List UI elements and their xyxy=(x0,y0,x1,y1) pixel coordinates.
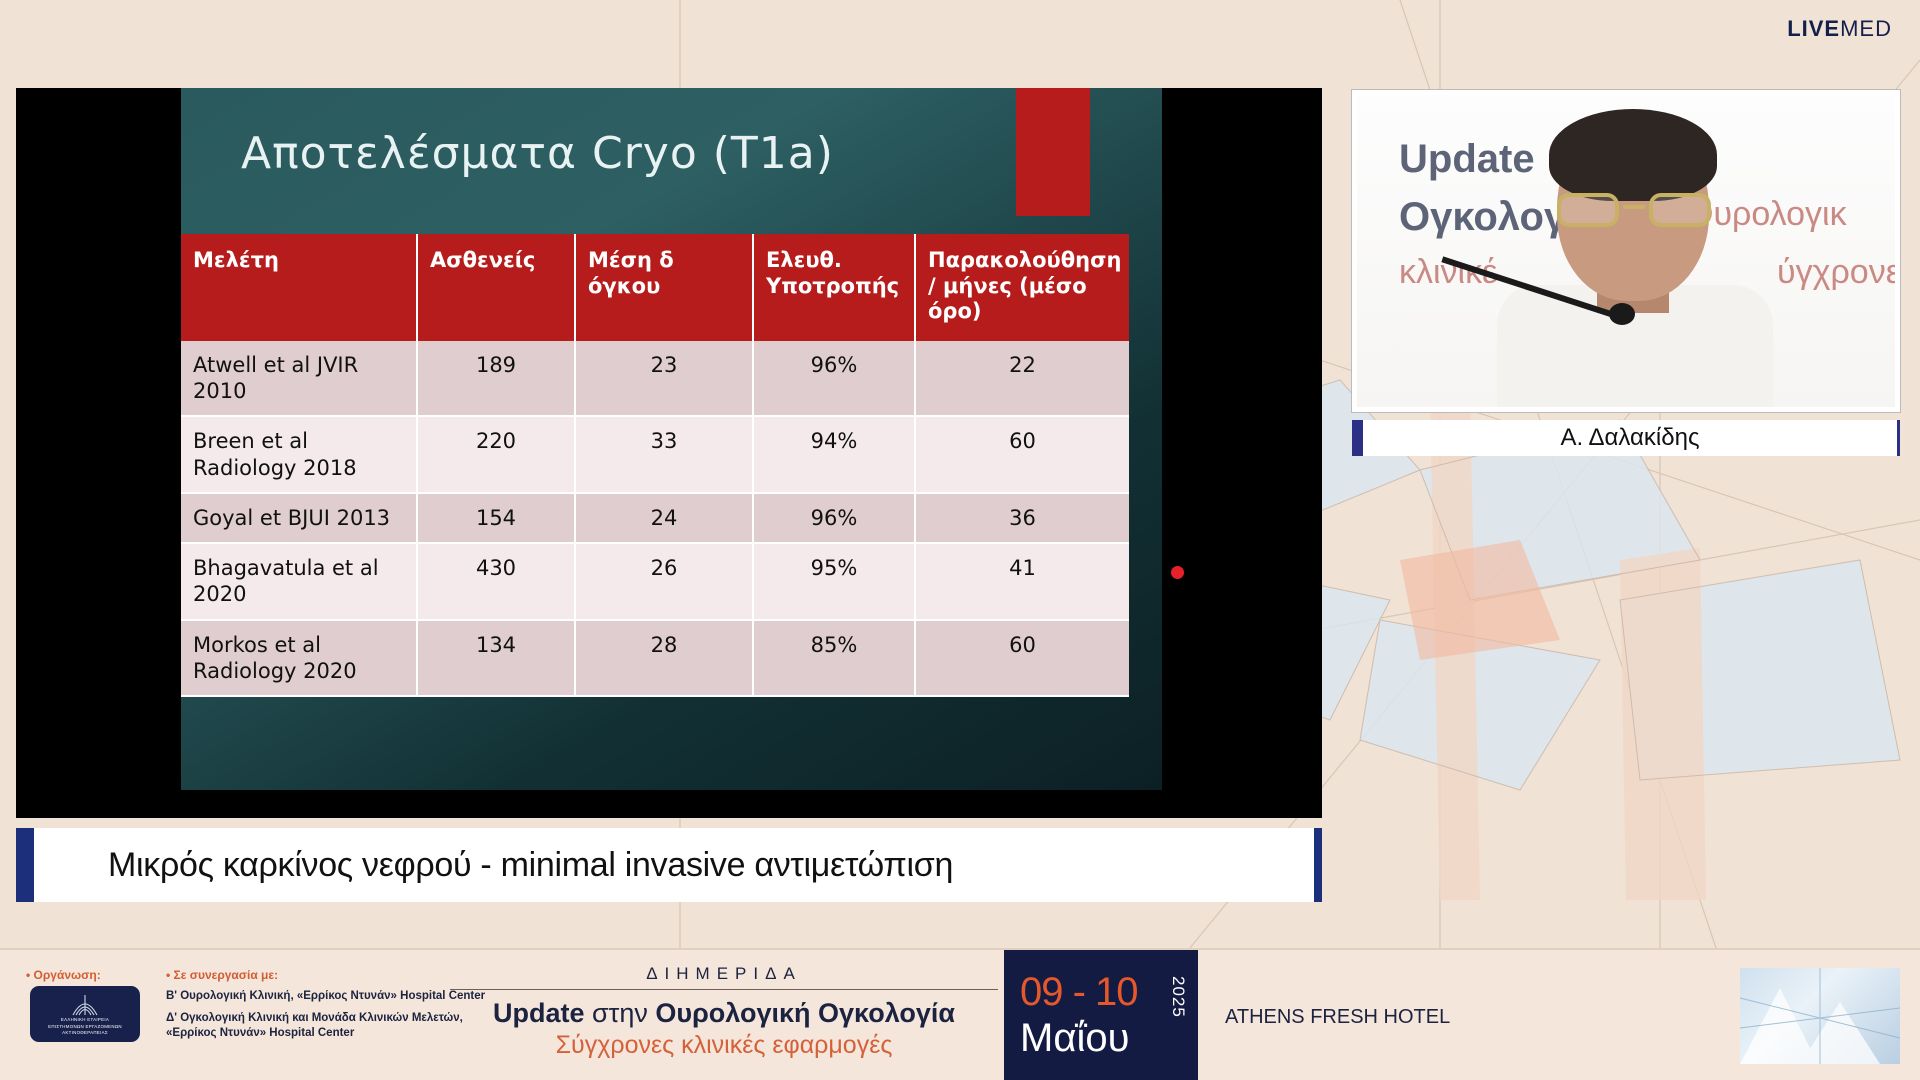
cell-study: Morkos et al Radiology 2020 xyxy=(181,620,417,697)
cell-followup: 60 xyxy=(915,416,1129,493)
table-row: Bhagavatula et al 2020 430 26 95% 41 xyxy=(181,543,1129,620)
speaker-name-text: Α. Δαλακίδης xyxy=(1560,424,1699,452)
slide-accent-bar xyxy=(1016,88,1090,216)
cell-patients: 220 xyxy=(417,416,575,493)
results-table-wrapper: Μελέτη Ασθενείς Μέση δ όγκου Ελευθ. Υποτ… xyxy=(181,234,1129,697)
slide-content: Αποτελέσματα Cryo (T1a) Μελέτη Ασθενείς … xyxy=(181,88,1162,790)
cell-followup: 60 xyxy=(915,620,1129,697)
backdrop-text-sygxrones: ύγχρονες xyxy=(1777,253,1900,292)
event-date-month: Μαΐου xyxy=(1020,1016,1129,1061)
organizer-logo-line3: ΑΚΤΙΝΟΘΕΡΑΠΕΙΑΣ xyxy=(62,1030,108,1037)
organizer-logo: ΕΛΛΗΝΙΚΗ ΕΤΑΙΡΕΙΑ ΕΠΙΣΤΗΜΟΝΩΝ ΕΡΓΑΖΟΜΕΝΩ… xyxy=(30,986,140,1042)
event-title-block: ΔΙΗΜΕΡΙΔΑ Update στην Ουρολογική Ογκολογ… xyxy=(450,964,998,1060)
speaker-portrait xyxy=(1485,109,1785,412)
cooperation-line: «Ερρίκος Ντυνάν» Hospital Center xyxy=(166,1026,485,1042)
slide-title: Αποτελέσματα Cryo (T1a) xyxy=(241,128,834,179)
cooperation-block: • Σε συνεργασία με: Β' Ουρολογική Κλινικ… xyxy=(166,968,485,1042)
laser-pointer-dot xyxy=(1171,566,1184,579)
microphone-head-icon xyxy=(1609,303,1635,325)
speaker-video-panel[interactable]: Update Ογκολογ κλινικέ Ουρολογικ ύγχρονε… xyxy=(1352,90,1900,412)
app-background: LIVEMED Αποτελέσματα Cryo (T1a) Μελέτη Α… xyxy=(0,0,1920,1080)
event-date-days: 09 - 10 xyxy=(1020,970,1138,1015)
speaker-hair xyxy=(1549,109,1717,201)
glasses-icon xyxy=(1551,193,1717,227)
livemed-logo: LIVEMED xyxy=(1787,16,1892,42)
livemed-logo-light: MED xyxy=(1840,16,1892,41)
cell-followup: 41 xyxy=(915,543,1129,620)
table-head: Μελέτη Ασθενείς Μέση δ όγκου Ελευθ. Υποτ… xyxy=(181,234,1129,341)
event-footer: • Οργάνωση: ΕΛΛΗΝΙΚΗ ΕΤΑΙΡΕΙΑ ΕΠΙΣΤΗΜΟΝΩ… xyxy=(0,948,1920,1080)
event-title: Update στην Ουρολογική Ογκολογία xyxy=(450,998,998,1029)
event-venue: ATHENS FRESH HOTEL xyxy=(1225,1006,1450,1029)
cell-patients: 430 xyxy=(417,543,575,620)
cooperation-label: • Σε συνεργασία με: xyxy=(166,968,485,982)
organizer-logo-line2: ΕΠΙΣΤΗΜΟΝΩΝ ΕΡΓΑΖΟΜΕΝΩΝ xyxy=(48,1024,122,1031)
column-header-patients: Ασθενείς xyxy=(417,234,575,341)
organizer-logo-line1: ΕΛΛΗΝΙΚΗ ΕΤΑΙΡΕΙΑ xyxy=(61,1017,109,1024)
cell-patients: 154 xyxy=(417,493,575,543)
session-caption-bar: Μικρός καρκίνος νεφρού - minimal invasiv… xyxy=(16,828,1322,902)
slide-viewer[interactable]: Αποτελέσματα Cryo (T1a) Μελέτη Ασθενείς … xyxy=(16,88,1322,818)
radiation-beam-icon xyxy=(67,991,103,1017)
column-header-study: Μελέτη xyxy=(181,234,417,341)
cell-study: Breen et al Radiology 2018 xyxy=(181,416,417,493)
results-table: Μελέτη Ασθενείς Μέση δ όγκου Ελευθ. Υποτ… xyxy=(181,234,1129,697)
cell-recurrence: 96% xyxy=(753,341,915,417)
organizer-label: • Οργάνωση: xyxy=(26,968,101,982)
cooperation-line: Β' Ουρολογική Κλινική, «Ερρίκος Ντυνάν» … xyxy=(166,989,485,1005)
table-row: Breen et al Radiology 2018 220 33 94% 60 xyxy=(181,416,1129,493)
event-kicker: ΔΙΗΜΕΡΙΔΑ xyxy=(450,964,998,990)
table-header-row: Μελέτη Ασθενείς Μέση δ όγκου Ελευθ. Υποτ… xyxy=(181,234,1129,341)
cell-mean-size: 33 xyxy=(575,416,753,493)
table-row: Goyal et BJUI 2013 154 24 96% 36 xyxy=(181,493,1129,543)
cell-mean-size: 24 xyxy=(575,493,753,543)
cell-followup: 22 xyxy=(915,341,1129,417)
event-date-block: 09 - 10 Μαΐου 2025 xyxy=(1004,950,1198,1080)
table-row: Morkos et al Radiology 2020 134 28 85% 6… xyxy=(181,620,1129,697)
column-header-followup: Παρακολούθηση / μήνες (μέσο όρο) xyxy=(915,234,1129,341)
cooperation-line: Δ' Ογκολογική Κλινική και Μονάδα Κλινικώ… xyxy=(166,1011,485,1027)
column-header-mean-size: Μέση δ όγκου xyxy=(575,234,753,341)
cell-patients: 189 xyxy=(417,341,575,417)
cell-study: Bhagavatula et al 2020 xyxy=(181,543,417,620)
event-date-year: 2025 xyxy=(1168,976,1188,1018)
cell-recurrence: 85% xyxy=(753,620,915,697)
cell-recurrence: 95% xyxy=(753,543,915,620)
livemed-logo-bold: LIVE xyxy=(1787,16,1840,41)
table-row: Atwell et al JVIR 2010 189 23 96% 22 xyxy=(181,341,1129,417)
cell-recurrence: 96% xyxy=(753,493,915,543)
speaker-name-bar: Α. Δαλακίδης xyxy=(1352,420,1900,456)
cell-study: Atwell et al JVIR 2010 xyxy=(181,341,417,417)
cell-mean-size: 23 xyxy=(575,341,753,417)
cell-mean-size: 26 xyxy=(575,543,753,620)
table-body: Atwell et al JVIR 2010 189 23 96% 22 Bre… xyxy=(181,341,1129,696)
venue-photo xyxy=(1740,968,1900,1064)
cell-mean-size: 28 xyxy=(575,620,753,697)
column-header-recurrence: Ελευθ. Υποτροπής xyxy=(753,234,915,341)
session-caption-text: Μικρός καρκίνος νεφρού - minimal invasiv… xyxy=(108,846,953,885)
cell-study: Goyal et BJUI 2013 xyxy=(181,493,417,543)
event-title-part-c: Ουρολογική Ογκολογία xyxy=(655,998,955,1028)
cell-recurrence: 94% xyxy=(753,416,915,493)
event-subtitle: Σύγχρονες κλινικές εφαρμογές xyxy=(450,1031,998,1060)
cell-followup: 36 xyxy=(915,493,1129,543)
event-title-part-b: στην xyxy=(585,998,656,1028)
event-title-part-a: Update xyxy=(493,998,585,1028)
video-backdrop: Update Ογκολογ κλινικέ Ουρολογικ ύγχρονε… xyxy=(1357,95,1895,407)
cell-patients: 134 xyxy=(417,620,575,697)
